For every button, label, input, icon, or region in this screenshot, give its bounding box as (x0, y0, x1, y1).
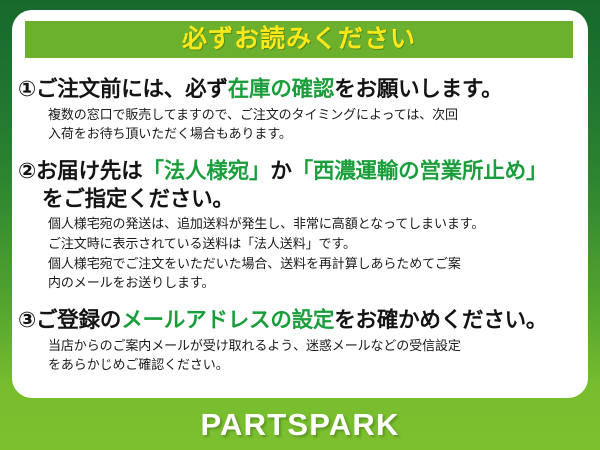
notice-item-2-heading-run-1-1: ②お届け先は (18, 159, 143, 183)
notice-item-1-subline-1: 複数の窓口で販売してますので、ご注文のタイミングによっては、次回 (48, 105, 580, 125)
page-title: 必ずお読みください (182, 27, 416, 52)
notice-item-2-subline-1: 個人様宅宛の発送は、追加送料が発生し、非常に高額となってしまいます。 (48, 214, 580, 234)
notice-item-3: ③ご登録のメールアドレスの設定をお確かめください。 当店からのご案内メールが受け… (12, 307, 588, 375)
notice-panel: 必ずお読みください ①ご注文前には、必ず在庫の確認をお願いします。 複数の窓口で… (12, 10, 588, 398)
notice-item-3-subline-1: 当店からのご案内メールが受け取れるよう、迷惑メールなどの受信設定 (48, 336, 580, 356)
notice-item-1-subline-2: 入荷をお待ち頂いただく場合もあります。 (48, 124, 580, 144)
brand-name: PARTSPARK (200, 409, 399, 440)
notice-item-3-heading-run-1-3: をお確かめください。 (334, 308, 547, 332)
notice-item-3-heading: ③ご登録のメールアドレスの設定をお確かめください。 (18, 307, 580, 335)
notice-item-list: ①ご注文前には、必ず在庫の確認をお願いします。 複数の窓口で販売してますので、ご… (12, 68, 588, 375)
notice-item-2-subline-2: ご注文時に表示されている送料は「法人送料」です。 (48, 234, 580, 254)
notice-item-3-heading-run-1-1: ③ご登録の (18, 308, 121, 332)
notice-title-bar: 必ずお読みください (25, 21, 573, 58)
notice-item-2-heading-line-2: をご指定ください。 (18, 186, 580, 214)
notice-item-3-subtext: 当店からのご案内メールが受け取れるよう、迷惑メールなどの受信設定をあらかじめご確… (18, 336, 580, 376)
brand-footer: PARTSPARK (0, 398, 600, 450)
notice-item-2-heading-run-1-2-highlight: 「法人様宛」 (143, 159, 271, 183)
notice-banner: 必ずお読みください ①ご注文前には、必ず在庫の確認をお願いします。 複数の窓口で… (0, 0, 600, 450)
notice-item-3-subline-2: をあらかじめご確認ください。 (48, 355, 580, 375)
notice-item-1-heading-line-1: ①ご注文前には、必ず在庫の確認をお願いします。 (18, 77, 503, 101)
notice-item-2-heading-run-2-1: をご指定ください。 (42, 187, 234, 211)
notice-item-2-heading: ②お届け先は「法人様宛」か「西濃運輸の営業所止め」をご指定ください。 (18, 158, 580, 213)
notice-item-1-heading-run-1-2-highlight: 在庫の確認 (228, 77, 335, 101)
notice-item-2-subline-3: 個人様宅宛でご注文をいただいた場合、送料を再計算しあらためてご案 (48, 254, 580, 274)
notice-item-1: ①ご注文前には、必ず在庫の確認をお願いします。 複数の窓口で販売してますので、ご… (12, 76, 588, 144)
notice-item-2: ②お届け先は「法人様宛」か「西濃運輸の営業所止め」をご指定ください。 個人様宅宛… (12, 158, 588, 293)
notice-item-2-subline-4: 内のメールをお送りします。 (48, 273, 580, 293)
notice-item-3-heading-line-1: ③ご登録のメールアドレスの設定をお確かめください。 (18, 308, 547, 332)
notice-item-1-heading-run-1-1: ①ご注文前には、必ず (18, 77, 228, 101)
notice-item-2-heading-run-1-4-highlight: 「西濃運輸の営業所止め」 (292, 159, 548, 183)
notice-item-2-subtext: 個人様宅宛の発送は、追加送料が発生し、非常に高額となってしまいます。ご注文時に表… (18, 214, 580, 293)
notice-item-2-heading-line-1: ②お届け先は「法人様宛」か「西濃運輸の営業所止め」 (18, 159, 547, 183)
notice-item-3-heading-run-1-2-highlight: メールアドレスの設定 (121, 308, 334, 332)
notice-item-2-heading-run-1-3: か (270, 159, 291, 183)
notice-item-1-heading-run-1-3: をお願いします。 (334, 77, 502, 101)
notice-item-1-heading: ①ご注文前には、必ず在庫の確認をお願いします。 (18, 76, 580, 104)
notice-item-1-subtext: 複数の窓口で販売してますので、ご注文のタイミングによっては、次回入荷をお待ち頂い… (18, 105, 580, 145)
